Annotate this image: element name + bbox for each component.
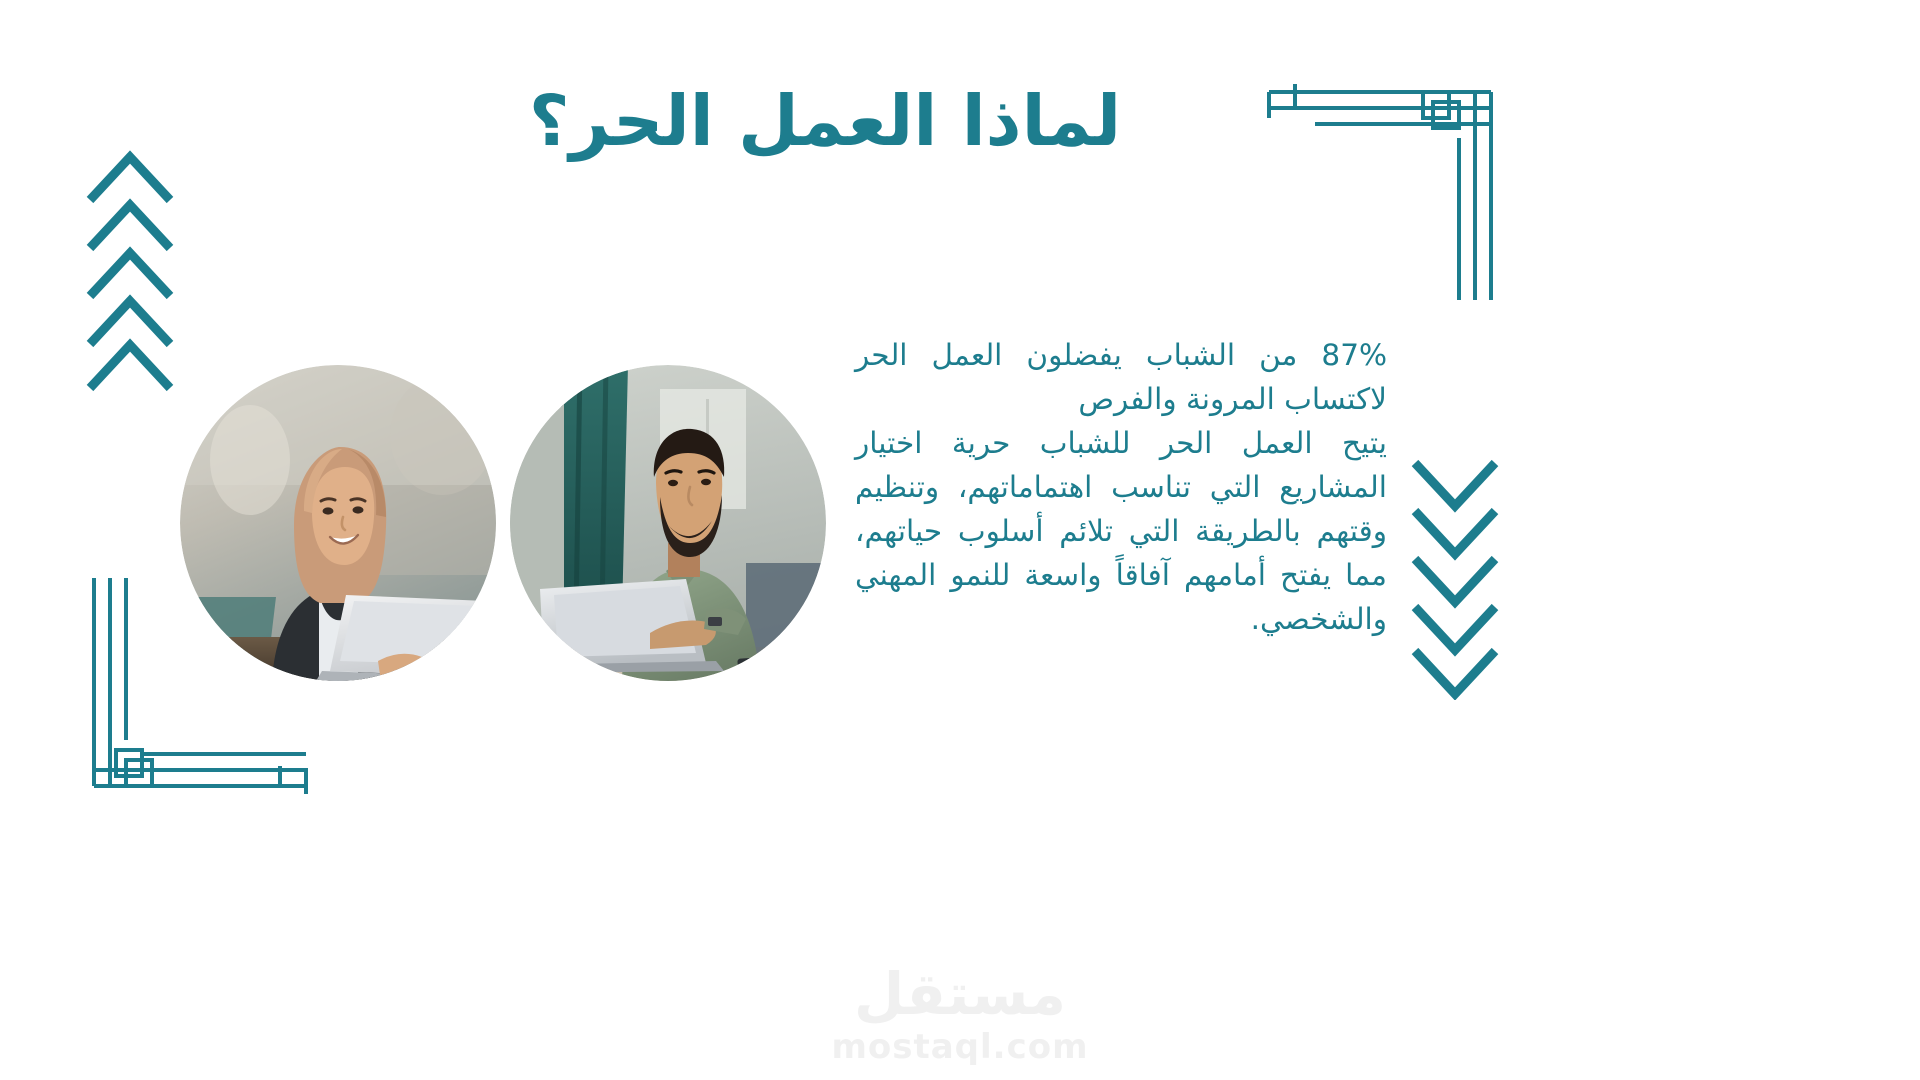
corner-ornament-top-right (1255, 78, 1505, 308)
mostaql-logo-latin: mostaql.com (0, 1027, 1920, 1067)
body-text-block: 87% من الشباب يفضلون العمل الحر لاكتساب … (855, 333, 1387, 641)
chevron-down-stack-icon (1405, 455, 1505, 700)
chevron-up-stack-icon (80, 145, 180, 395)
paragraph-description: يتيح العمل الحر للشباب حرية اختيار المشا… (855, 421, 1387, 641)
mostaql-logo-arabic: مستقل (0, 965, 1920, 1023)
photo-woman-laptop (180, 365, 496, 681)
photo-man-laptop (510, 365, 826, 681)
mostaql-watermark: مستقل mostaql.com (0, 965, 1920, 1067)
page-title: لماذا العمل الحر؟ (0, 78, 1785, 166)
paragraph-statistic: 87% من الشباب يفضلون العمل الحر لاكتساب … (855, 333, 1387, 421)
slide-root: لماذا العمل الحر؟ (0, 0, 1920, 1080)
